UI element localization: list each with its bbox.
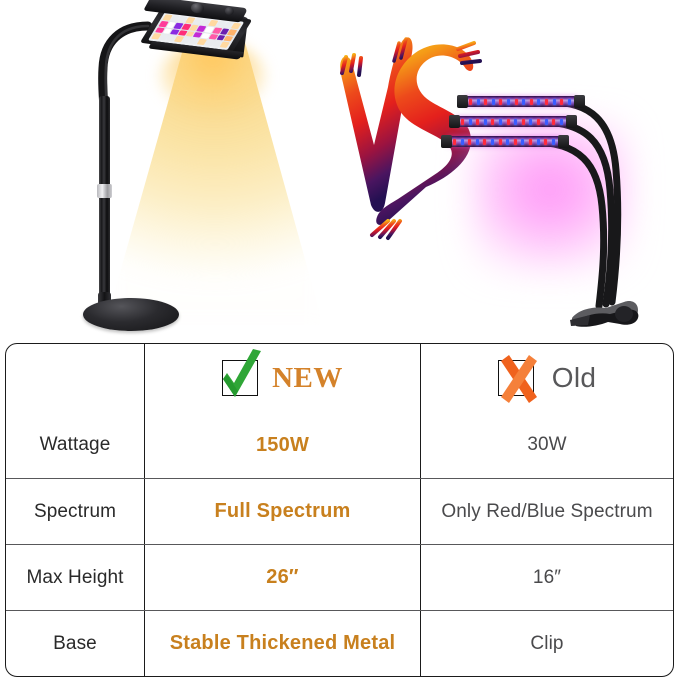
- led-tube: [446, 136, 564, 147]
- row-label-cell: Spectrum: [6, 479, 145, 544]
- header-cell-old: Old: [421, 344, 673, 412]
- header-cell-new: NEW: [145, 344, 421, 412]
- header-cell-label: [6, 344, 145, 412]
- product-comparison-hero: [0, 0, 679, 343]
- lamp-pole: [99, 96, 110, 316]
- table-row: Wattage150W30W: [6, 412, 673, 478]
- led-tube: [462, 96, 580, 107]
- row-old-cell: Only Red/Blue Spectrum: [421, 479, 673, 544]
- cross-mark-icon: [498, 360, 534, 396]
- led-tube-cap: [558, 135, 569, 148]
- table-row: BaseStable Thickened MetalClip: [6, 610, 673, 676]
- table-row: Max Height26″16″: [6, 544, 673, 610]
- led-tube-chips: [453, 137, 555, 146]
- led-tube-chips: [469, 97, 571, 106]
- led-chip: [231, 23, 241, 29]
- led-tube-cap: [441, 135, 452, 148]
- row-old-cell: Clip: [421, 611, 673, 676]
- table-row: SpectrumFull SpectrumOnly Red/Blue Spect…: [6, 478, 673, 544]
- led-tube: [454, 116, 572, 127]
- led-tube-cap: [574, 95, 585, 108]
- row-new-cell: 150W: [145, 412, 421, 478]
- comparison-table: NEW Old Wattage150W30WSpectrumFull Spect…: [5, 343, 674, 677]
- row-old-value: 16″: [533, 567, 561, 589]
- row-label-cell: Base: [6, 611, 145, 676]
- row-label: Wattage: [40, 434, 111, 456]
- led-tube-cap: [449, 115, 460, 128]
- row-new-value: Full Spectrum: [215, 500, 351, 523]
- row-new-cell: 26″: [145, 545, 421, 610]
- row-label: Spectrum: [34, 501, 116, 523]
- round-metal-base: [83, 298, 179, 331]
- led-chip: [220, 42, 230, 48]
- row-old-value: Clip: [530, 633, 563, 655]
- new-product-illustration: [0, 0, 340, 343]
- pole-collar: [97, 184, 112, 198]
- header-new-label: NEW: [272, 362, 343, 395]
- table-body: Wattage150W30WSpectrumFull SpectrumOnly …: [6, 412, 673, 676]
- row-old-value: 30W: [527, 434, 566, 456]
- row-old-cell: 16″: [421, 545, 673, 610]
- row-new-cell: Stable Thickened Metal: [145, 611, 421, 676]
- led-tube-cap: [457, 95, 468, 108]
- led-tube-cap: [566, 115, 577, 128]
- row-label-cell: Wattage: [6, 412, 145, 478]
- check-mark-icon: [222, 360, 258, 396]
- row-new-value: Stable Thickened Metal: [170, 632, 396, 655]
- row-new-cell: Full Spectrum: [145, 479, 421, 544]
- row-old-cell: 30W: [421, 412, 673, 478]
- clip-clamp-icon: [568, 288, 642, 330]
- row-new-value: 150W: [256, 434, 309, 457]
- old-product-illustration: [440, 80, 679, 343]
- led-tube-chips: [461, 117, 563, 126]
- row-label: Max Height: [26, 567, 123, 589]
- row-old-value: Only Red/Blue Spectrum: [441, 501, 652, 523]
- table-header-row: NEW Old: [6, 344, 673, 412]
- row-new-value: 26″: [266, 566, 298, 589]
- led-chip: [227, 29, 237, 35]
- row-label-cell: Max Height: [6, 545, 145, 610]
- row-label: Base: [53, 633, 97, 655]
- header-old-label: Old: [552, 362, 596, 394]
- led-chip: [224, 35, 234, 41]
